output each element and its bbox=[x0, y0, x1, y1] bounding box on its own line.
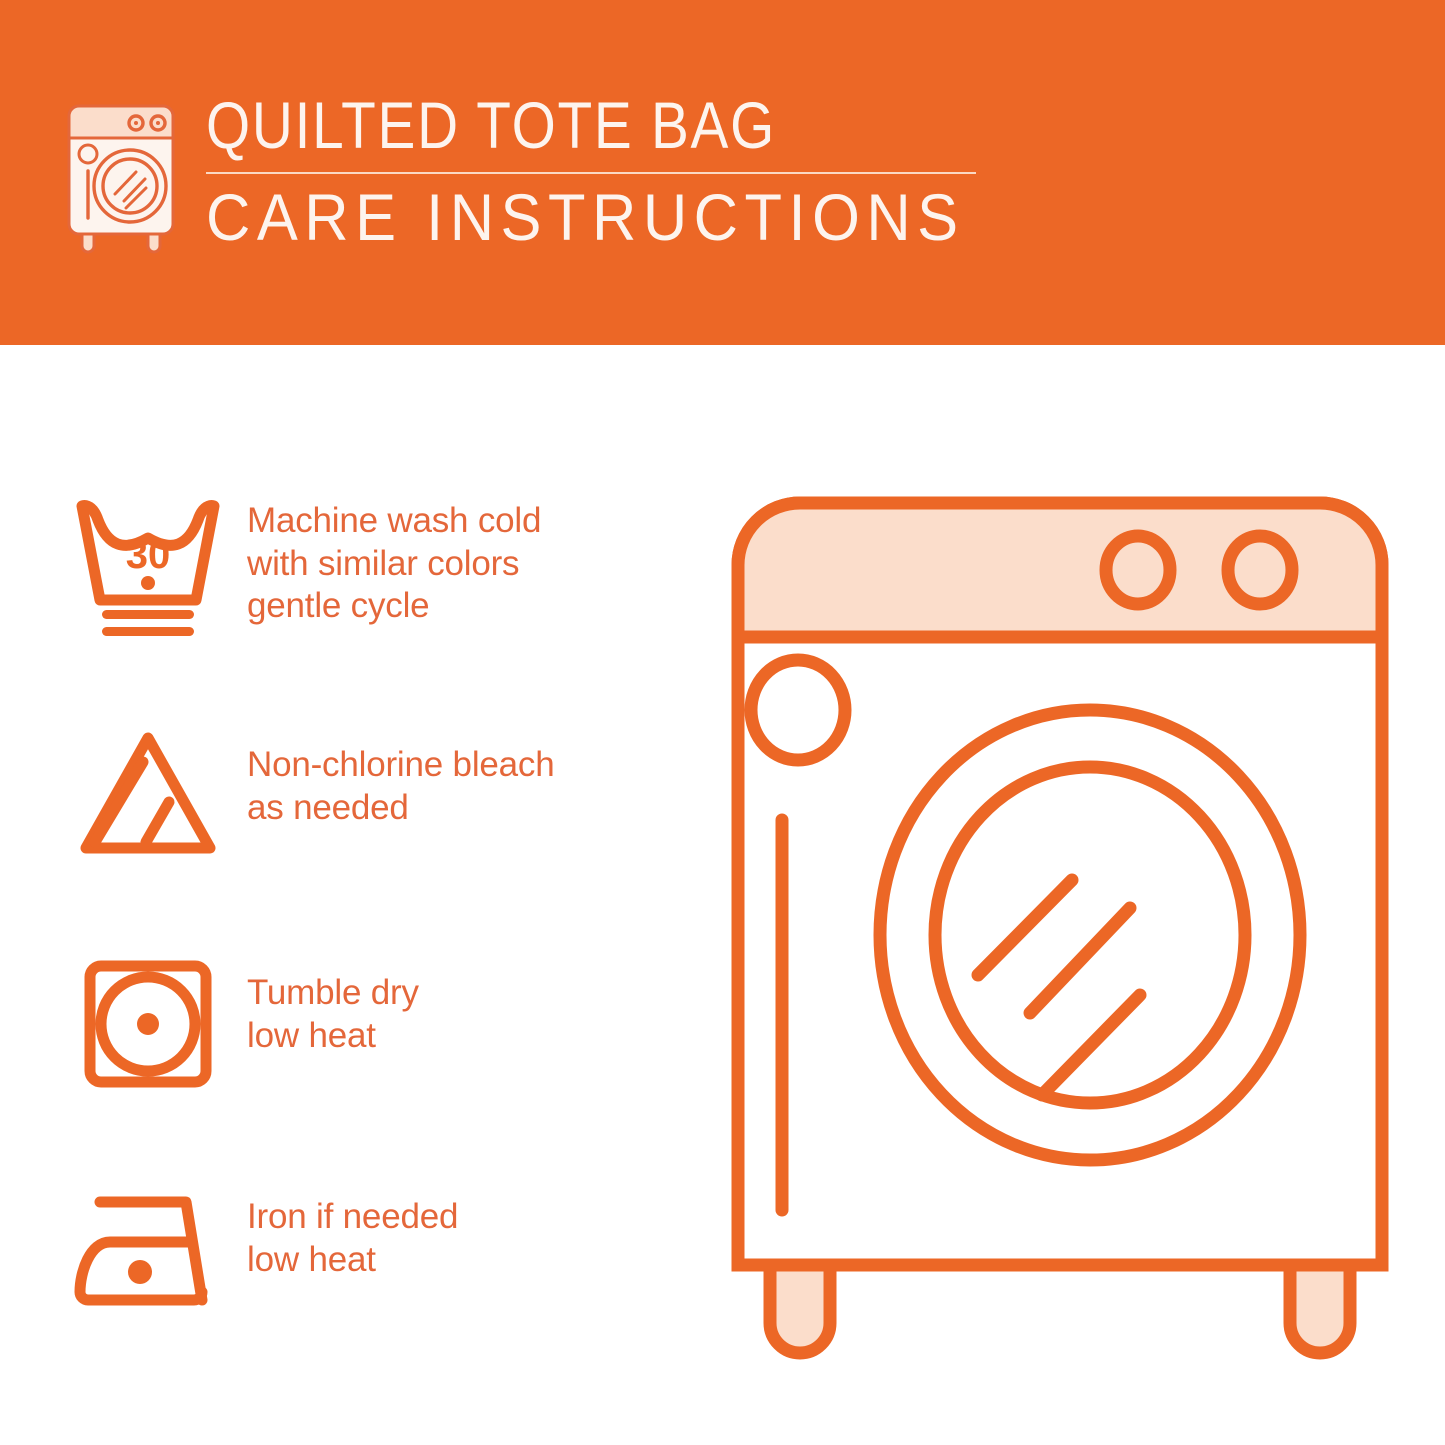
header-text-block: QUILTED TOTE BAG CARE INSTRUCTIONS bbox=[206, 88, 1022, 252]
instruction-item-bleach: Non-chlorine bleach as needed bbox=[60, 712, 680, 942]
iron-low-heat-icon bbox=[60, 1172, 235, 1330]
instruction-item-wash: 30 Machine wash cold with similar colors… bbox=[60, 482, 680, 712]
washing-machine-illustration bbox=[700, 465, 1420, 1385]
wash-basin-30-gentle-icon: 30 bbox=[60, 482, 235, 640]
header-banner: QUILTED TOTE BAG CARE INSTRUCTIONS bbox=[0, 0, 1445, 345]
page-subtitle: CARE INSTRUCTIONS bbox=[206, 183, 965, 252]
instruction-label: Machine wash cold with similar colors ge… bbox=[235, 482, 541, 628]
header-divider bbox=[206, 172, 976, 174]
instruction-label: Iron if needed low heat bbox=[235, 1172, 458, 1281]
instruction-item-tumble-dry: Tumble dry low heat bbox=[60, 942, 680, 1172]
care-instructions-list: 30 Machine wash cold with similar colors… bbox=[60, 482, 680, 1402]
instruction-item-iron: Iron if needed low heat bbox=[60, 1172, 680, 1402]
wash-temperature-label: 30 bbox=[125, 533, 170, 577]
washing-machine-icon bbox=[62, 96, 180, 256]
instruction-label: Non-chlorine bleach as needed bbox=[235, 712, 555, 829]
tumble-dry-low-heat-icon bbox=[60, 942, 235, 1100]
page-title: QUILTED TOTE BAG bbox=[206, 92, 908, 159]
non-chlorine-bleach-triangle-icon bbox=[60, 712, 235, 870]
instruction-label: Tumble dry low heat bbox=[235, 942, 419, 1057]
header-content: QUILTED TOTE BAG CARE INSTRUCTIONS bbox=[62, 88, 1022, 256]
